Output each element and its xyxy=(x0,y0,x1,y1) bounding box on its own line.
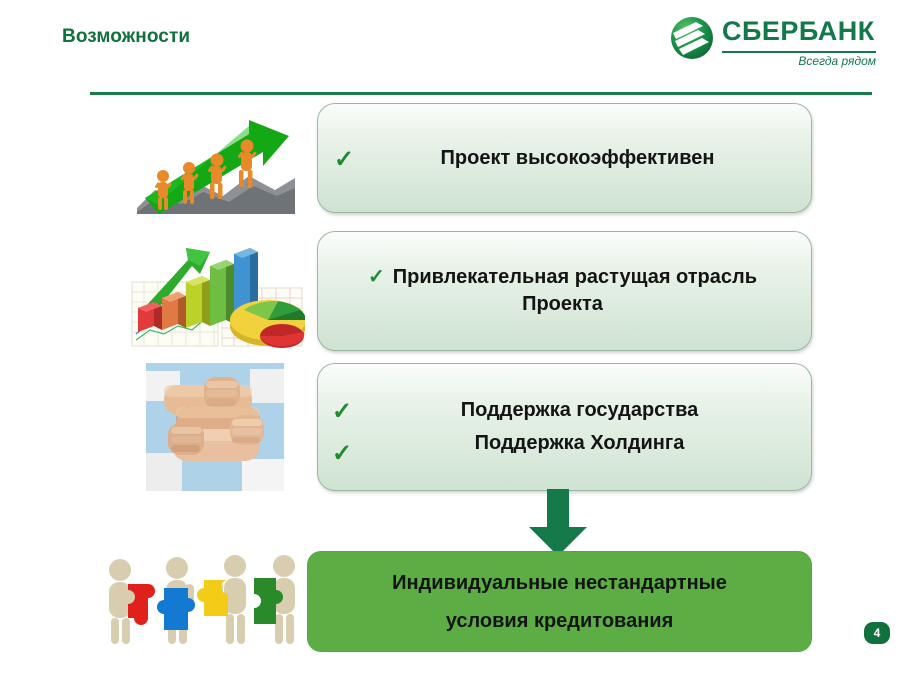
page-title: Возможности xyxy=(62,26,190,48)
result-box: Индивидуальные нестандартные условия кре… xyxy=(307,551,812,652)
slide-canvas: Возможности СБЕРБАНК Всегда рядом xyxy=(0,0,900,680)
result-box-line-2: условия кредитования xyxy=(324,602,795,640)
benefit-box-1: ✓ Проект высокоэффективен xyxy=(317,103,812,213)
sberbank-logo: СБЕРБАНК Всегда рядом xyxy=(670,14,876,72)
page-number-badge: 4 xyxy=(864,622,890,644)
image-people-lifting-green-arrow xyxy=(137,104,295,214)
logo-tagline: Всегда рядом xyxy=(798,54,876,68)
image-3d-bar-and-pie-chart xyxy=(130,230,305,350)
check-icon: ✓ xyxy=(332,400,352,424)
benefit-box-3-line-2: Поддержка Холдинга xyxy=(348,430,811,457)
logo-wordmark: СБЕРБАНК xyxy=(722,18,875,45)
benefit-box-2-line-1: Привлекательная растущая отрасль xyxy=(393,266,757,288)
benefit-box-1-text: Проект высокоэффективен xyxy=(318,145,811,172)
header-divider xyxy=(90,92,872,95)
arrow-down-icon xyxy=(527,489,589,557)
image-four-hands-teamwork xyxy=(146,363,284,491)
benefit-box-3-text: Поддержка государства Поддержка Холдинга xyxy=(318,391,811,463)
benefit-box-2: ✓Привлекательная растущая отрасль Проект… xyxy=(317,231,812,351)
logo-divider xyxy=(722,51,876,53)
image-people-with-puzzle-pieces xyxy=(92,548,304,652)
result-box-line-1: Индивидуальные нестандартные xyxy=(324,564,795,602)
check-icon: ✓ xyxy=(332,442,352,466)
result-box-text: Индивидуальные нестандартные условия кре… xyxy=(308,564,811,640)
benefit-box-2-text: ✓Привлекательная растущая отрасль Проект… xyxy=(318,264,811,318)
benefit-box-2-line-2: Проекта xyxy=(328,291,797,318)
sberbank-chevron-circle-icon xyxy=(670,16,714,60)
check-icon: ✓ xyxy=(334,148,354,172)
benefit-box-3-line-1: Поддержка государства xyxy=(348,397,811,424)
check-icon: ✓ xyxy=(368,266,385,288)
benefit-box-3: ✓ ✓ Поддержка государства Поддержка Холд… xyxy=(317,363,812,491)
